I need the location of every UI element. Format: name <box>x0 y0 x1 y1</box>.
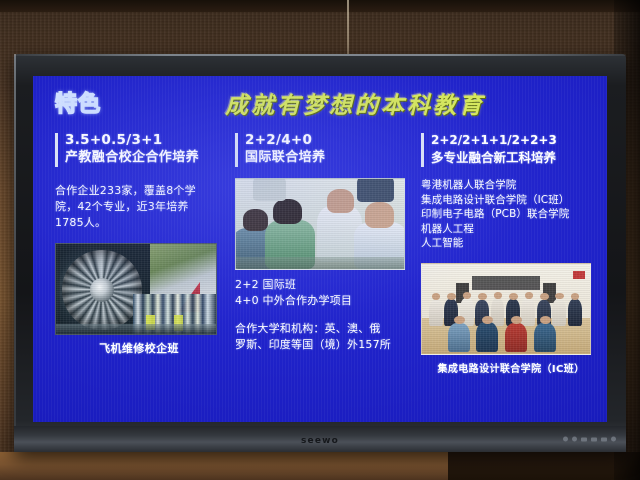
device-brand-logo: seewo <box>301 436 339 446</box>
heading-accent-bar <box>421 133 424 167</box>
column-1-body: 合作企业233家，覆盖8个学 院，42个专业，近3年培养 1785人。 <box>55 183 223 231</box>
display-bottom-bezel: seewo <box>14 426 626 452</box>
display-control-buttons[interactable] <box>563 437 616 442</box>
column-1-body-line-3: 1785人。 <box>55 215 223 231</box>
column-1-model-code: 3.5+0.5/3+1 <box>65 132 199 149</box>
column-2-partners: 合作大学和机构：英、澳、俄 罗斯、印度等国（境）外157所 <box>235 321 409 353</box>
column-1-body-line-1: 合作企业233家，覆盖8个学 <box>55 183 223 199</box>
slide-columns: 3.5+0.5/3+1 产教融合校企合作培养 合作企业233家，覆盖8个学 院，… <box>33 132 607 422</box>
institute-item-1: 粤港机器人联合学院 <box>421 178 601 193</box>
column-industry-education: 3.5+0.5/3+1 产教融合校企合作培养 合作企业233家，覆盖8个学 院，… <box>33 132 229 422</box>
interactive-flat-panel-display[interactable]: 特色 成就有梦想的本科教育 3.5+0.5/3+1 产教融合校企合作培养 合作企… <box>14 54 626 452</box>
heading-accent-bar <box>235 133 238 167</box>
column-2-partners-line-1: 合作大学和机构：英、澳、俄 <box>235 321 409 337</box>
photo-grain <box>422 264 590 354</box>
column-2-partners-line-2: 罗斯、印度等国（境）外157所 <box>235 337 409 353</box>
column-2-program-list: 2+2 国际班 4+0 中外合作办学项目 <box>235 277 409 309</box>
ic-class-group-photo <box>421 263 591 355</box>
volume-up-button-icon[interactable] <box>601 437 607 441</box>
international-classroom-photo <box>235 178 405 270</box>
column-3-heading: 2+2/2+1+1/2+2+3 多专业融合新工科培养 <box>421 132 601 167</box>
column-1-heading: 3.5+0.5/3+1 产教融合校企合作培养 <box>55 132 223 167</box>
lower-wall-shadow <box>448 452 640 480</box>
slide-title: 成就有梦想的本科教育 <box>33 94 607 117</box>
institute-item-4: 机器人工程 <box>421 222 601 237</box>
ceiling-shadow <box>0 0 640 12</box>
column-3-model-code: 2+2/2+1+1/2+2+3 <box>431 132 557 149</box>
column-3-photo-caption: 集成电路设计联合学院（IC班） <box>421 360 601 375</box>
volume-down-button-icon[interactable] <box>591 437 597 441</box>
column-2-program-line-2: 4+0 中外合作办学项目 <box>235 293 409 309</box>
column-3-institute-list: 粤港机器人联合学院 集成电路设计联合学院（IC班） 印制电子电路（PCB）联合学… <box>421 178 601 251</box>
ir-sensor-icon <box>611 437 616 442</box>
institute-item-5: 人工智能 <box>421 236 601 251</box>
column-1-photo-caption: 飞机维修校企班 <box>55 340 223 356</box>
classroom-wall-background: 特色 成就有梦想的本科教育 3.5+0.5/3+1 产教融合校企合作培养 合作企… <box>0 0 640 480</box>
bezel-left-highlight <box>14 54 16 452</box>
column-3-model-name: 多专业融合新工科培养 <box>431 149 557 166</box>
aircraft-maintenance-photo <box>55 243 217 335</box>
column-2-model-code: 2+2/4+0 <box>245 132 325 149</box>
column-2-heading: 2+2/4+0 国际联合培养 <box>235 132 409 167</box>
column-2-model-name: 国际联合培养 <box>245 149 325 166</box>
column-international-program: 2+2/4+0 国际联合培养 <box>229 132 415 422</box>
institute-item-2: 集成电路设计联合学院（IC班） <box>421 193 601 208</box>
source-button-icon[interactable] <box>581 437 587 441</box>
photo-grain <box>56 244 216 334</box>
column-2-program-line-1: 2+2 国际班 <box>235 277 409 293</box>
column-new-engineering: 2+2/2+1+1/2+2+3 多专业融合新工科培养 粤港机器人联合学院 集成电… <box>415 132 607 422</box>
column-1-model-name: 产教融合校企合作培养 <box>65 149 199 166</box>
photo-grain <box>236 179 404 269</box>
institute-item-3: 印制电子电路（PCB）联合学院 <box>421 207 601 222</box>
menu-button-icon[interactable] <box>572 437 577 442</box>
heading-accent-bar <box>55 133 58 167</box>
power-indicator-icon[interactable] <box>563 437 568 442</box>
bezel-top-highlight <box>14 54 626 56</box>
presentation-screen[interactable]: 特色 成就有梦想的本科教育 3.5+0.5/3+1 产教融合校企合作培养 合作企… <box>33 76 607 422</box>
column-1-body-line-2: 院，42个专业，近3年培养 <box>55 199 223 215</box>
